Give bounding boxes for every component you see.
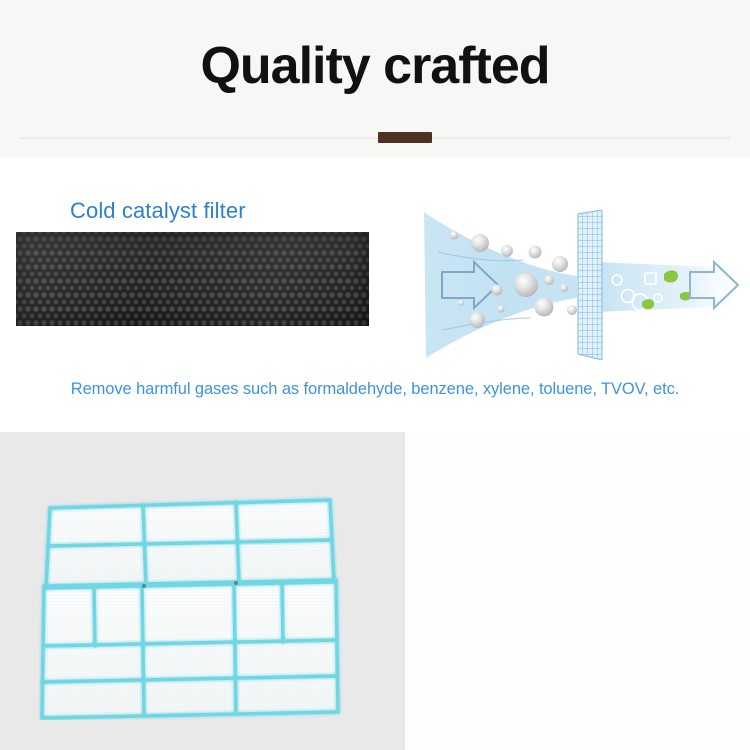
white-high-density-filter-image (38, 490, 368, 720)
header-divider-rule (20, 137, 730, 139)
product-feature-page: Quality crafted Cold catalyst filter (0, 0, 750, 750)
cold-catalyst-section: Cold catalyst filter (0, 158, 750, 432)
filter-description-panel: White high-density filter for excellence… (405, 432, 750, 750)
airflow-filtration-diagram (402, 210, 747, 360)
cold-catalyst-heading: Cold catalyst filter (70, 198, 246, 224)
page-title: Quality crafted (0, 36, 750, 96)
black-honeycomb-filter-swatch (16, 232, 369, 326)
filter-photo-panel (0, 432, 405, 750)
harmful-gases-caption: Remove harmful gases such as formaldehyd… (0, 380, 750, 399)
honeycomb-sheen-overlay (16, 232, 369, 326)
header-accent-bar (378, 132, 432, 143)
